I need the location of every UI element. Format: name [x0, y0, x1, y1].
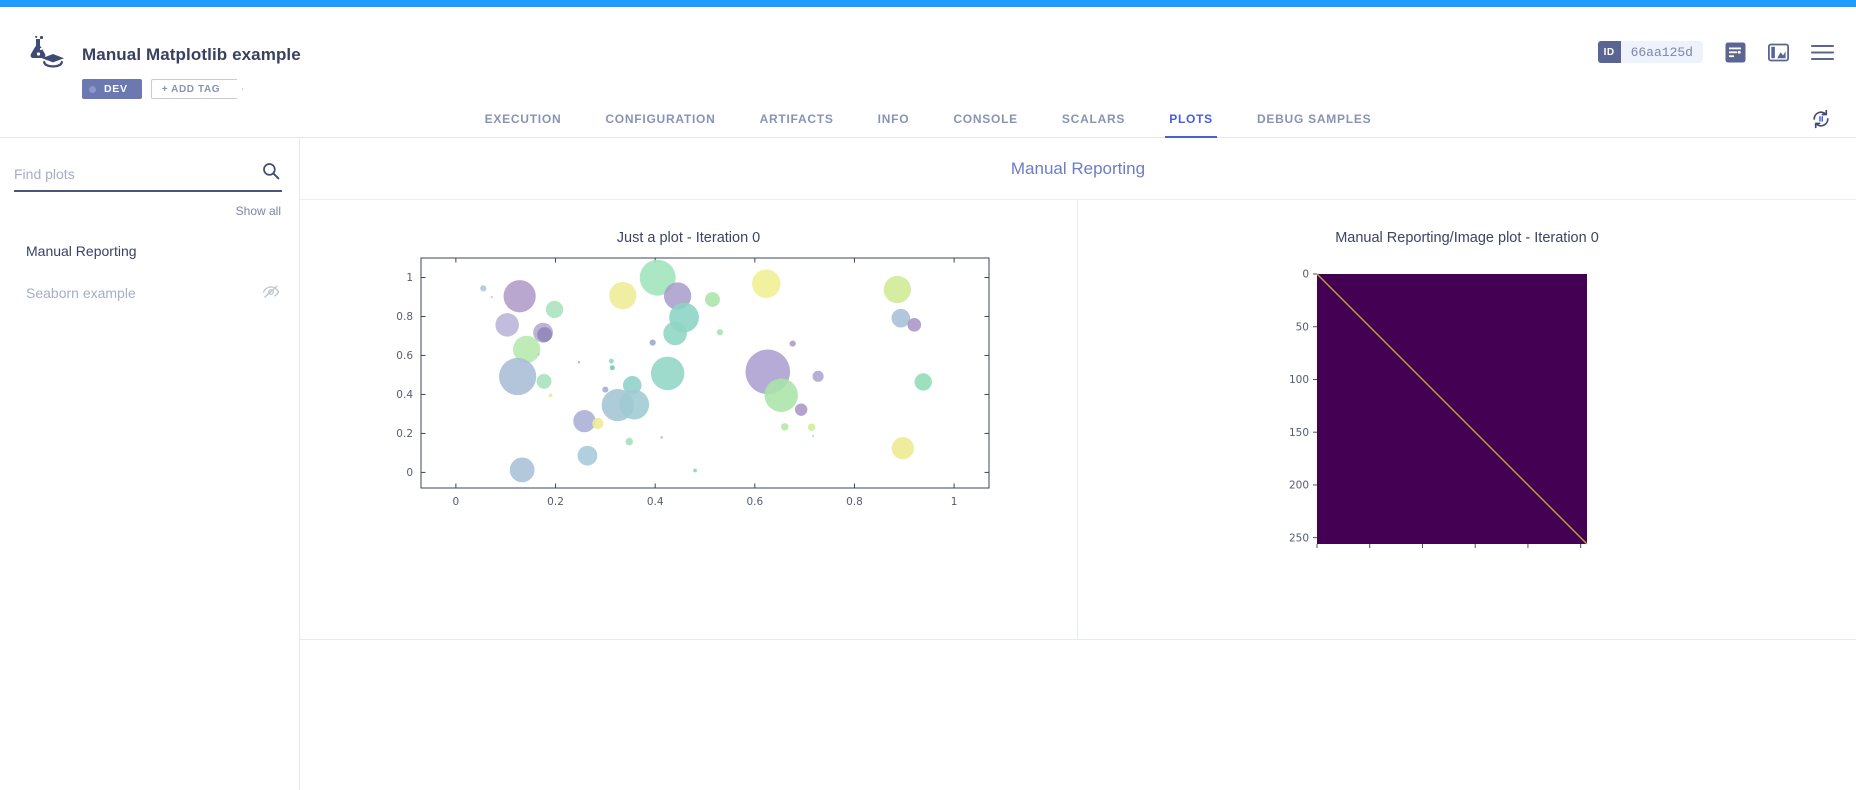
tab-bar: EXECUTION CONFIGURATION ARTIFACTS INFO C…	[0, 100, 1856, 138]
svg-text:0.6: 0.6	[746, 496, 763, 508]
list-item-label: Manual Reporting	[26, 243, 137, 259]
id-value: 66aa125d	[1621, 45, 1703, 60]
plot-title-scatter: Just a plot - Iteration 0	[617, 230, 760, 246]
tab-debug-samples[interactable]: DEBUG SAMPLES	[1235, 100, 1393, 138]
empty-area-below-plots	[300, 640, 1856, 775]
svg-text:0: 0	[1302, 269, 1309, 281]
svg-text:250: 250	[1289, 532, 1309, 544]
page-title: Manual Matplotlib example	[82, 45, 301, 65]
svg-text:200: 200	[1289, 480, 1309, 492]
tab-info[interactable]: INFO	[856, 100, 932, 138]
list-item-label: Seaborn example	[26, 285, 136, 301]
eye-off-icon[interactable]	[262, 283, 280, 304]
svg-text:0.4: 0.4	[646, 496, 663, 508]
image-chart[interactable]: 050100150200250050100150200250	[1257, 260, 1677, 550]
section-title: Manual Reporting	[300, 138, 1856, 200]
plot-card-scatter[interactable]: Just a plot - Iteration 0 00.20.40.60.81…	[300, 200, 1078, 639]
svg-text:0.8: 0.8	[396, 311, 413, 323]
tab-list: EXECUTION CONFIGURATION ARTIFACTS INFO C…	[0, 100, 1856, 138]
tag-row: DEV + ADD TAG	[82, 79, 243, 99]
add-tag-button[interactable]: + ADD TAG	[151, 79, 243, 99]
id-label: ID	[1598, 41, 1621, 63]
tab-artifacts[interactable]: ARTIFACTS	[738, 100, 856, 138]
plot-grid: Just a plot - Iteration 0 00.20.40.60.81…	[300, 200, 1856, 640]
tab-console[interactable]: CONSOLE	[931, 100, 1040, 138]
hamburger-menu-icon[interactable]	[1811, 43, 1834, 62]
svg-text:0: 0	[406, 467, 413, 479]
show-all-link[interactable]: Show all	[236, 204, 281, 218]
svg-text:1: 1	[406, 272, 413, 284]
svg-text:0.6: 0.6	[396, 350, 413, 362]
search-field[interactable]	[14, 162, 282, 192]
plot-title-image: Manual Reporting/Image plot - Iteration …	[1335, 230, 1599, 246]
log-icon[interactable]	[1725, 42, 1746, 63]
tab-scalars[interactable]: SCALARS	[1040, 100, 1147, 138]
svg-text:0.2: 0.2	[547, 496, 564, 508]
svg-text:0.2: 0.2	[396, 428, 413, 440]
panel-layout-icon[interactable]	[1768, 42, 1789, 63]
page-header: Manual Matplotlib example DEV + ADD TAG …	[0, 7, 1856, 100]
svg-text:0: 0	[452, 496, 459, 508]
list-item-seaborn-example[interactable]: Seaborn example	[0, 272, 300, 314]
experiment-logo-icon	[20, 36, 66, 72]
svg-text:0.8: 0.8	[846, 496, 863, 508]
svg-text:1: 1	[950, 496, 957, 508]
plot-card-image[interactable]: Manual Reporting/Image plot - Iteration …	[1078, 200, 1856, 639]
svg-text:0.4: 0.4	[396, 389, 413, 401]
header-actions: ID 66aa125d	[1598, 41, 1834, 63]
auto-refresh-icon[interactable]	[1810, 108, 1832, 130]
svg-text:100: 100	[1289, 374, 1309, 386]
tab-configuration[interactable]: CONFIGURATION	[583, 100, 737, 138]
list-item-manual-reporting[interactable]: Manual Reporting	[0, 230, 300, 272]
plots-sidebar: Show all Manual Reporting Seaborn exampl…	[0, 138, 300, 790]
tab-plots[interactable]: PLOTS	[1147, 100, 1235, 138]
search-input[interactable]	[14, 166, 244, 186]
tag-dev[interactable]: DEV	[82, 79, 142, 99]
tab-execution[interactable]: EXECUTION	[463, 100, 584, 138]
plots-main-panel: Manual Reporting Just a plot - Iteration…	[300, 138, 1856, 790]
plot-list: Manual Reporting Seaborn example	[0, 230, 300, 314]
experiment-id-chip[interactable]: ID 66aa125d	[1598, 41, 1703, 63]
search-icon[interactable]	[262, 162, 280, 185]
svg-text:50: 50	[1296, 321, 1309, 333]
svg-text:150: 150	[1289, 427, 1309, 439]
scatter-chart[interactable]: 00.20.40.60.8100.20.40.60.81	[379, 246, 999, 536]
